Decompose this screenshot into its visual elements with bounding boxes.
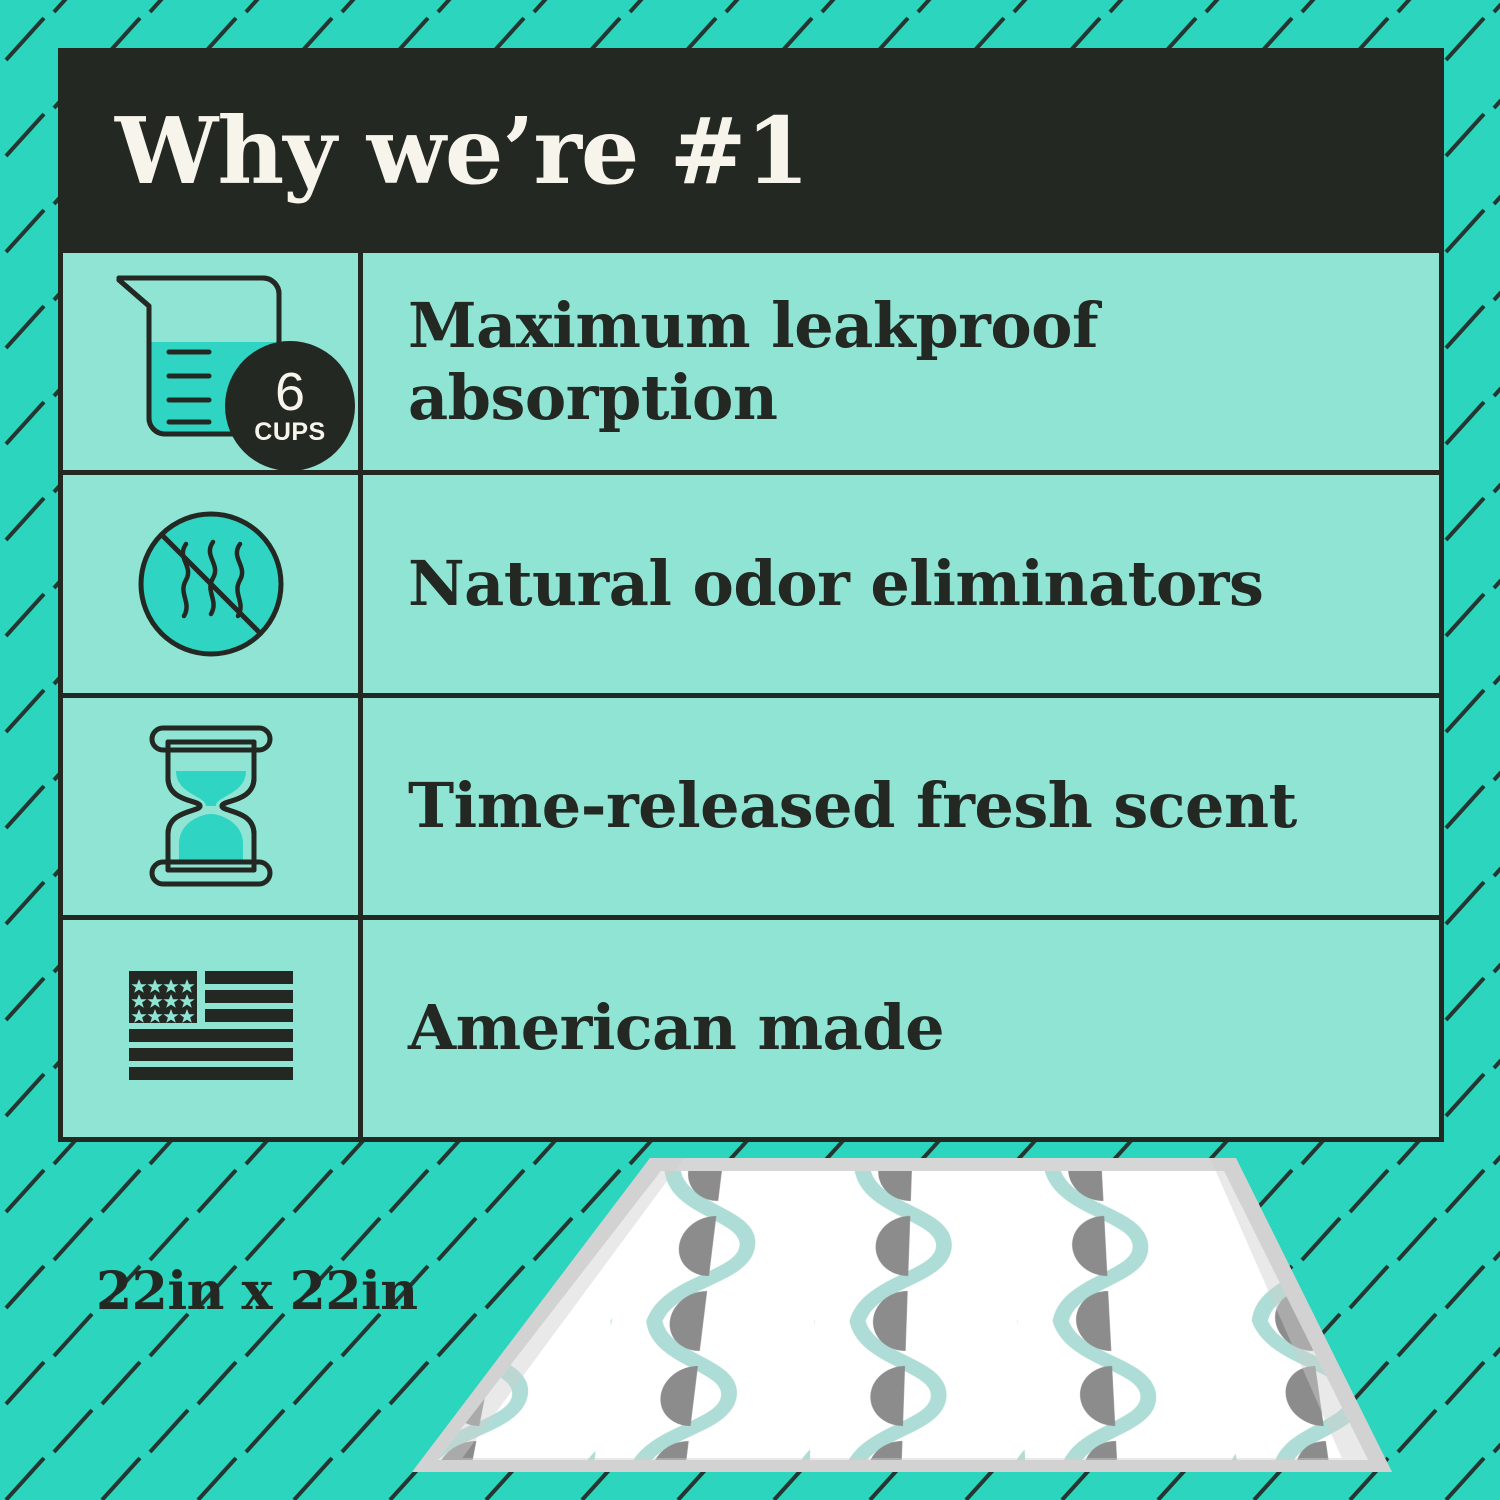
- card-header: Why we’re #1: [58, 48, 1444, 253]
- feature-label: American made: [408, 992, 944, 1064]
- feature-icon-cell: [63, 920, 363, 1137]
- feature-text-cell: Time-released fresh scent: [363, 698, 1439, 915]
- table-row: Time-released fresh scent: [63, 698, 1439, 920]
- feature-label: Natural odor eliminators: [408, 548, 1263, 620]
- hourglass-icon: [136, 716, 286, 896]
- table-row: Natural odor eliminators: [63, 475, 1439, 697]
- product-size-caption: 22in x 22in: [96, 1266, 418, 1318]
- no-odor-icon: [131, 504, 291, 664]
- feature-label: Time-released fresh scent: [408, 770, 1297, 842]
- feature-icon-cell: [63, 475, 363, 692]
- cups-badge-number: 6: [275, 367, 305, 418]
- feature-label: Maximum leakproof absorption: [408, 290, 1415, 434]
- feature-text-cell: Maximum leakproof absorption: [363, 253, 1439, 470]
- american-flag-icon: [126, 968, 296, 1088]
- feature-table: 6 CUPS Maximum leakproof absorption: [58, 253, 1444, 1142]
- cups-badge-unit: CUPS: [254, 420, 325, 445]
- feature-icon-cell: 6 CUPS: [63, 253, 363, 470]
- table-row: American made: [63, 920, 1439, 1137]
- cups-badge: 6 CUPS: [225, 341, 355, 471]
- feature-icon-cell: [63, 698, 363, 915]
- feature-text-cell: American made: [363, 920, 1439, 1137]
- page-title: Why we’re #1: [115, 105, 809, 197]
- table-row: 6 CUPS Maximum leakproof absorption: [63, 253, 1439, 475]
- why-we-are-number-one-card: Why we’re #1: [58, 48, 1444, 1142]
- promo-graphic: 22in x 22in Why we’re #1: [0, 0, 1500, 1500]
- feature-text-cell: Natural odor eliminators: [363, 475, 1439, 692]
